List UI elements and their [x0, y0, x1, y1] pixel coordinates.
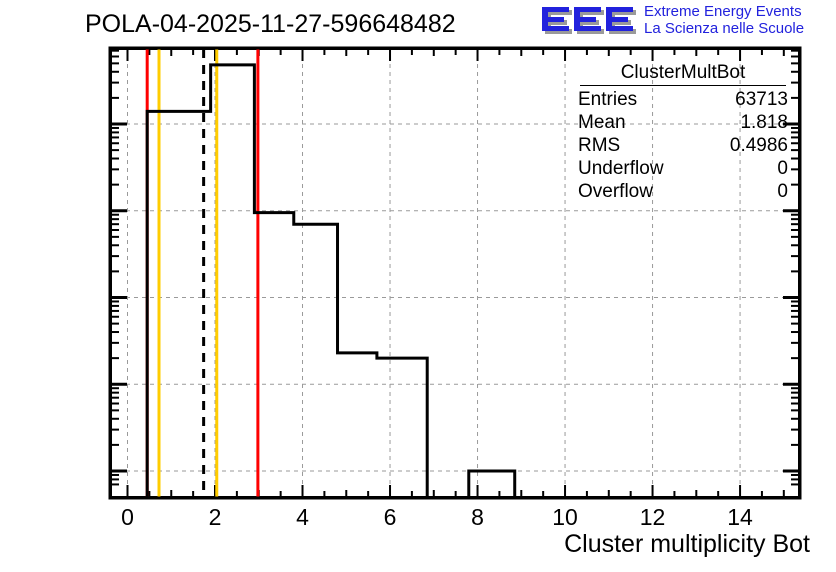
x-axis-title: Cluster multiplicity Bot: [564, 530, 810, 559]
stats-row-value: 1.818: [740, 111, 788, 134]
stats-row-key: Mean: [578, 111, 626, 134]
stats-row-key: Overflow: [578, 180, 653, 203]
x-tick-label: 14: [727, 504, 753, 531]
x-tick-label: 12: [640, 504, 666, 531]
stats-row: RMS0.4986: [572, 134, 794, 157]
x-tick-label: 8: [471, 504, 484, 531]
stats-title: ClusterMultBot: [580, 62, 786, 86]
stats-row-value: 0.4986: [730, 134, 788, 157]
x-tick-label: 2: [209, 504, 222, 531]
stats-rows: Entries63713Mean1.818RMS0.4986Underflow0…: [572, 88, 794, 203]
canvas: POLA-04-2025-11-27-596648482: [0, 0, 836, 572]
stats-box: ClusterMultBot Entries63713Mean1.818RMS0…: [572, 62, 794, 203]
x-tick-label: 6: [384, 504, 397, 531]
x-tick-label: 4: [296, 504, 309, 531]
stats-row-key: Underflow: [578, 157, 664, 180]
stats-row-key: Entries: [578, 88, 637, 111]
stats-row: Mean1.818: [572, 111, 794, 134]
stats-row: Underflow0: [572, 157, 794, 180]
stats-row-key: RMS: [578, 134, 620, 157]
x-tick-label: 10: [552, 504, 578, 531]
stats-row: Overflow0: [572, 180, 794, 203]
stats-row-value: 0: [777, 180, 788, 203]
stats-row-value: 63713: [735, 88, 788, 111]
stats-row-value: 0: [777, 157, 788, 180]
stats-row: Entries63713: [572, 88, 794, 111]
x-tick-label: 0: [121, 504, 134, 531]
